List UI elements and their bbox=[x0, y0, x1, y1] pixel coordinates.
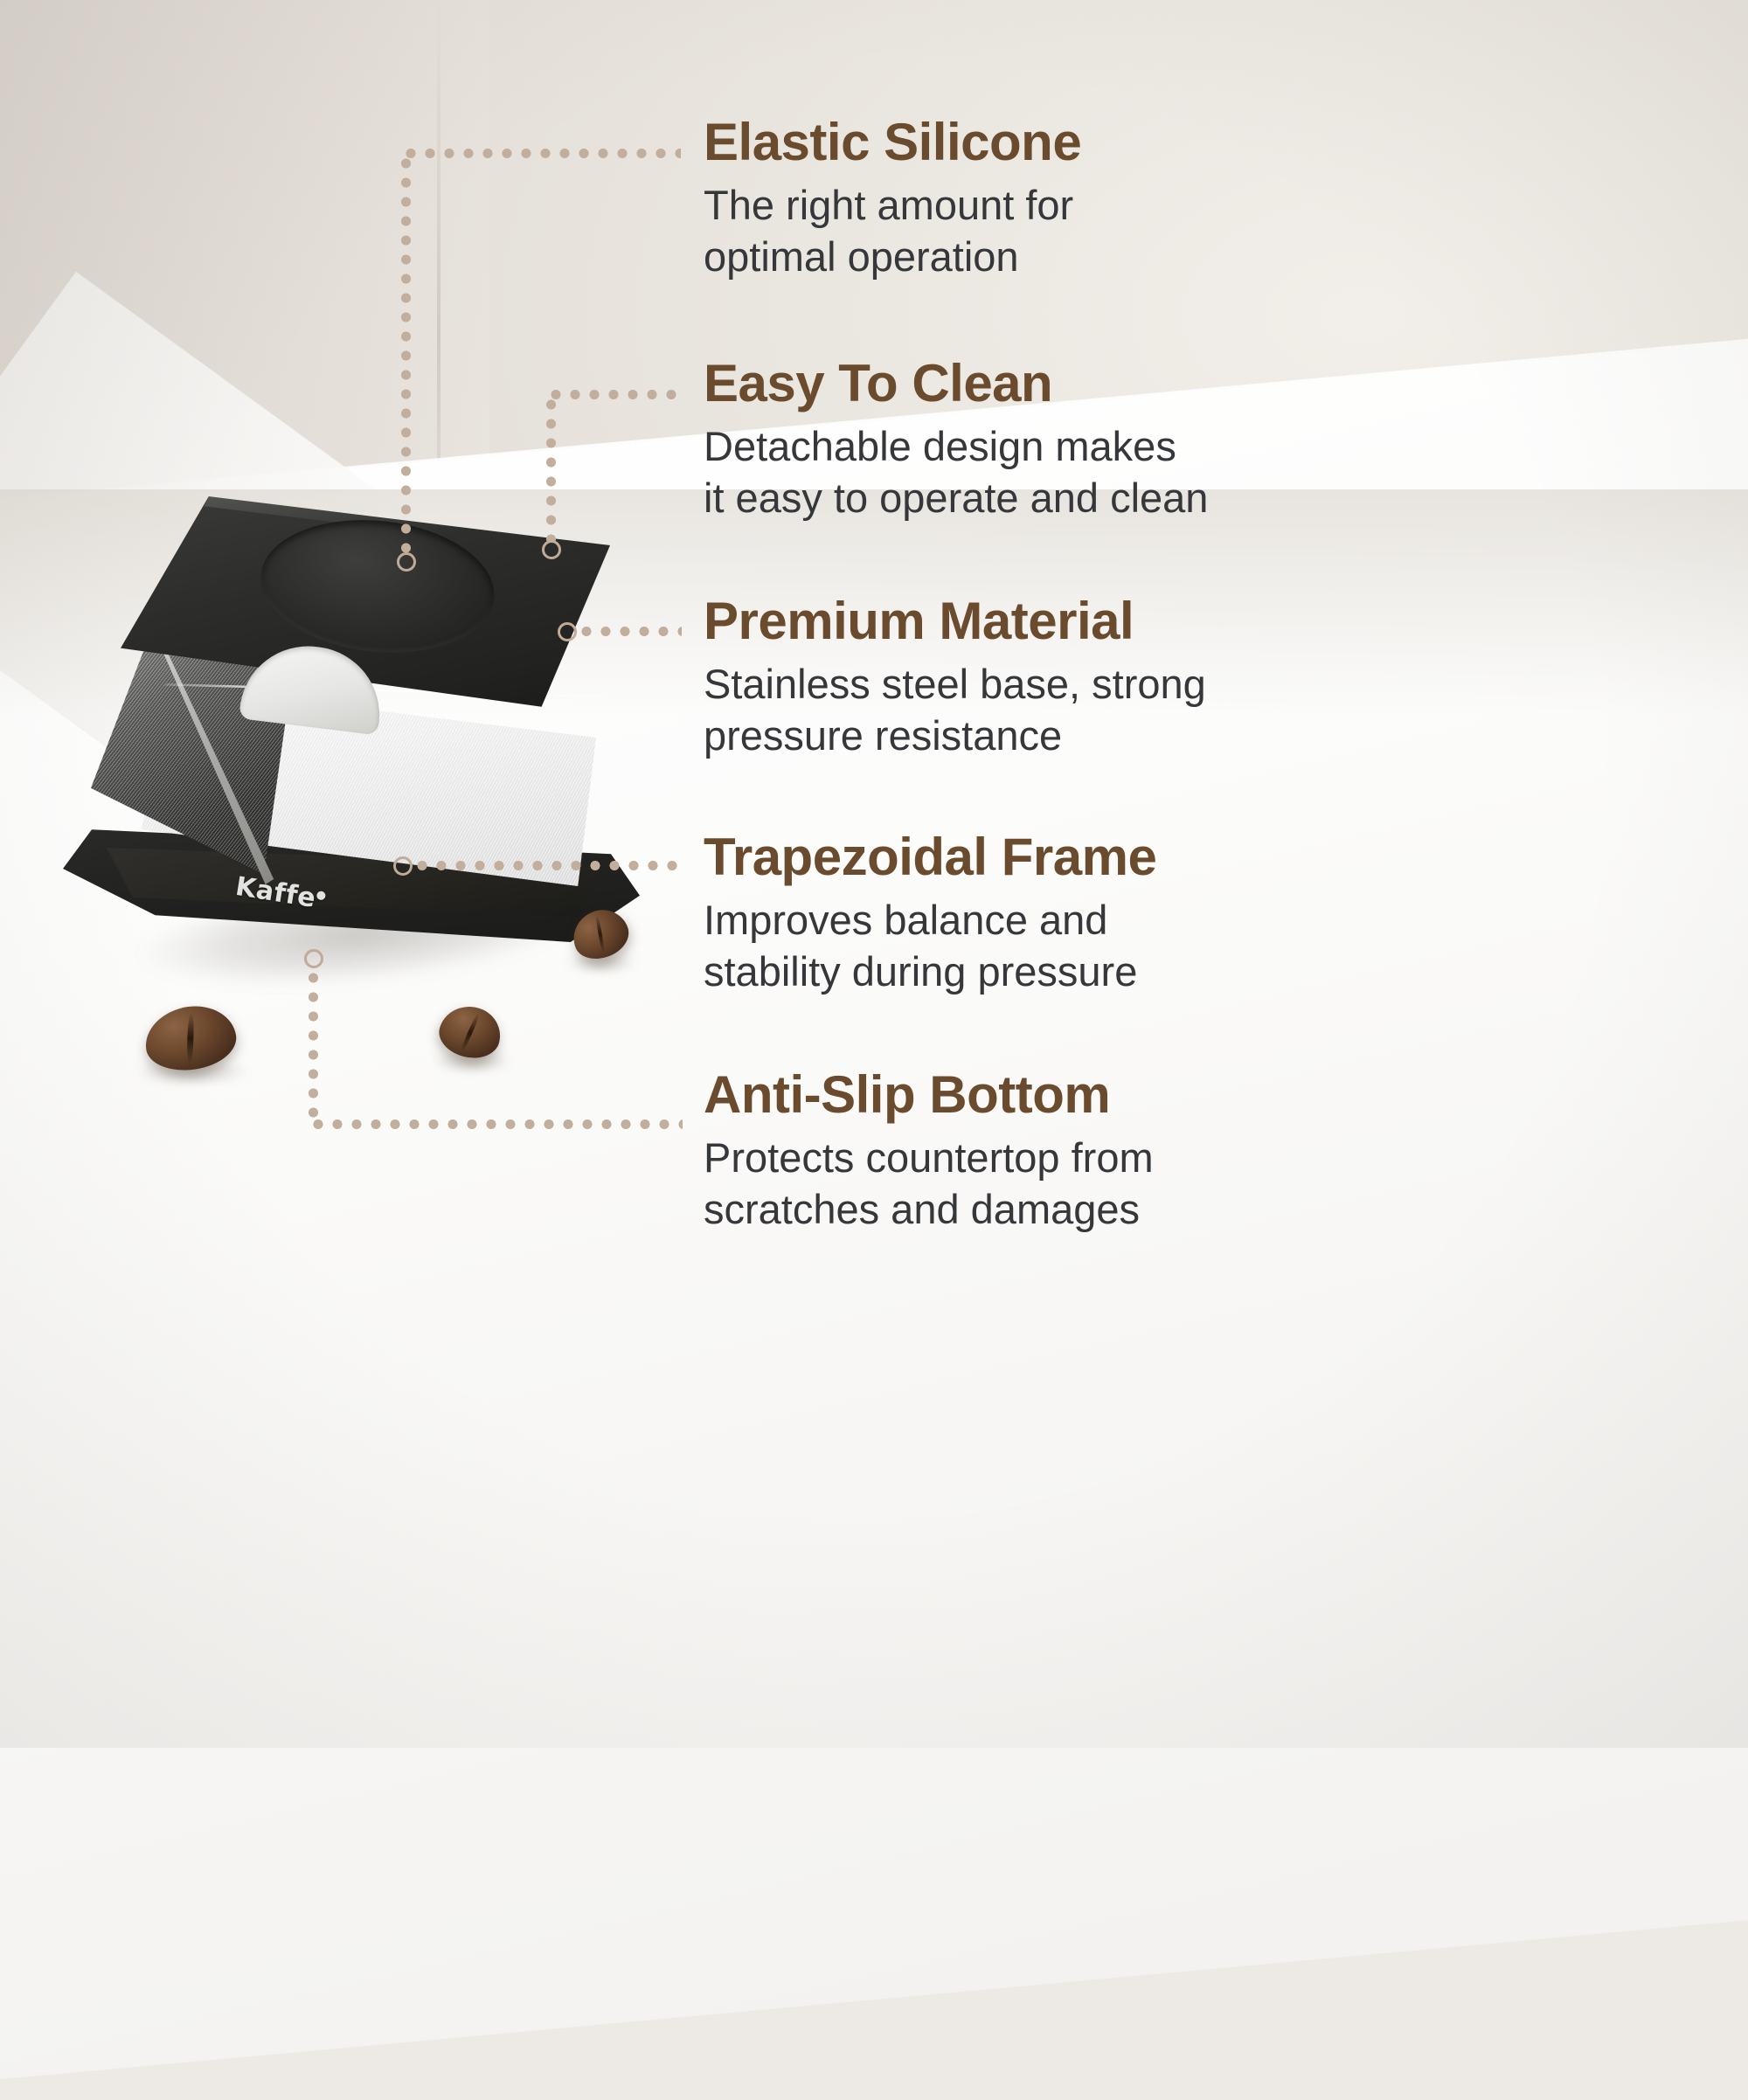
feature-title: Elastic Silicone bbox=[704, 115, 1368, 170]
leader-horizontal-premium-material bbox=[577, 627, 682, 636]
leader-vertical-easy-to-clean bbox=[546, 395, 556, 542]
feature-desc-line: it easy to operate and clean bbox=[704, 473, 1368, 523]
feature-title: Easy To Clean bbox=[704, 357, 1368, 411]
feature-elastic-silicone: Elastic Silicone The right amount for op… bbox=[704, 115, 1368, 282]
feature-description: Improves balance and stability during pr… bbox=[704, 895, 1368, 997]
feature-title: Anti-Slip Bottom bbox=[704, 1068, 1368, 1122]
feature-desc-line: Stainless steel base, strong bbox=[704, 659, 1368, 710]
feature-desc-line: scratches and damages bbox=[704, 1184, 1368, 1235]
feature-desc-line: The right amount for bbox=[704, 180, 1368, 231]
feature-description: Detachable design makes it easy to opera… bbox=[704, 421, 1368, 523]
marker-premium-material bbox=[558, 622, 577, 641]
leader-horizontal-elastic-silicone bbox=[401, 149, 681, 158]
feature-title: Premium Material bbox=[704, 594, 1368, 648]
feature-desc-line: Detachable design makes bbox=[704, 421, 1368, 472]
feature-desc-line: Protects countertop from bbox=[704, 1133, 1368, 1183]
marker-trapezoidal-frame bbox=[393, 856, 413, 876]
feature-description: Stainless steel base, strong pressure re… bbox=[704, 659, 1368, 761]
feature-anti-slip-bottom: Anti-Slip Bottom Protects countertop fro… bbox=[704, 1068, 1368, 1235]
feature-title: Trapezoidal Frame bbox=[704, 830, 1368, 884]
feature-description: Protects countertop from scratches and d… bbox=[704, 1133, 1368, 1235]
feature-trapezoidal-frame: Trapezoidal Frame Improves balance and s… bbox=[704, 830, 1368, 997]
feature-desc-line: Improves balance and bbox=[704, 895, 1368, 946]
feature-desc-line: stability during pressure bbox=[704, 946, 1368, 997]
leader-horizontal-trapezoidal-frame bbox=[413, 861, 682, 870]
leader-horizontal-easy-to-clean bbox=[546, 390, 682, 399]
marker-anti-slip-bottom bbox=[304, 949, 323, 968]
feature-easy-to-clean: Easy To Clean Detachable design makes it… bbox=[704, 357, 1368, 523]
feature-desc-line: optimal operation bbox=[704, 232, 1368, 282]
feature-description: The right amount for optimal operation bbox=[704, 180, 1368, 282]
leader-vertical-anti-slip-bottom bbox=[309, 968, 318, 1124]
feature-premium-material: Premium Material Stainless steel base, s… bbox=[704, 594, 1368, 761]
leader-vertical-elastic-silicone bbox=[401, 154, 411, 554]
marker-easy-to-clean bbox=[542, 540, 561, 559]
leader-horizontal-anti-slip-bottom bbox=[309, 1119, 683, 1129]
feature-desc-line: pressure resistance bbox=[704, 710, 1368, 761]
marker-elastic-silicone bbox=[397, 552, 416, 572]
